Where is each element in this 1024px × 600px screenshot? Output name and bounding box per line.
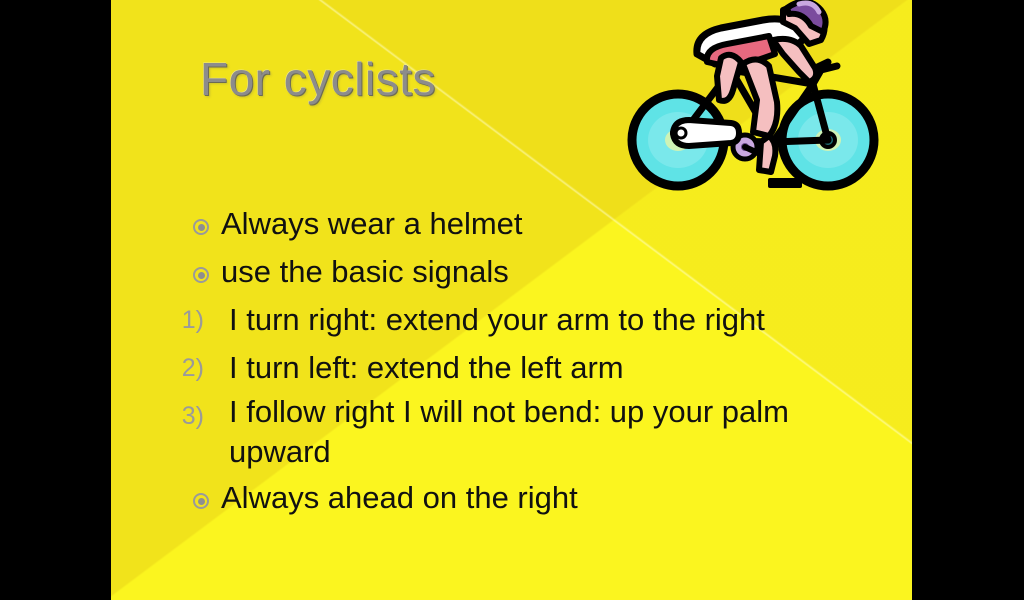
list-item-text: Always ahead on the right: [221, 480, 578, 515]
list-item-number: 1): [149, 296, 204, 344]
bullseye-bullet-icon: [149, 474, 209, 522]
list-item: 1) I turn right: extend your arm to the …: [149, 296, 909, 344]
slide-stage: For cyclists: [0, 0, 1024, 600]
bullseye-bullet-icon: [149, 200, 209, 248]
presentation-slide: For cyclists: [111, 0, 912, 600]
water-bottle: [673, 120, 739, 146]
list-item: Always ahead on the right: [149, 474, 909, 522]
list-item-text: use the basic signals: [221, 254, 509, 289]
letterbox-bar-left: [0, 0, 111, 600]
slide-title: For cyclists: [200, 52, 436, 106]
list-item: 2) I turn left: extend the left arm: [149, 344, 909, 392]
list-item: 3) I follow right I will not bend: up yo…: [149, 392, 809, 472]
slide-body-list: Always wear a helmet use the basic signa…: [149, 200, 909, 522]
list-item: Always wear a helmet: [149, 200, 909, 248]
cyclist-clipart-image: [623, 0, 883, 207]
bullseye-bullet-icon: [149, 248, 209, 296]
list-item-text: Always wear a helmet: [221, 206, 523, 241]
list-item-text: I turn left: extend the left arm: [229, 350, 624, 385]
list-item-text: I turn right: extend your arm to the rig…: [229, 302, 765, 337]
letterbox-bar-right: [912, 0, 1024, 600]
list-item: use the basic signals: [149, 248, 909, 296]
list-item-number: 3): [149, 392, 204, 440]
list-item-text: I follow right I will not bend: up your …: [229, 394, 789, 469]
list-item-number: 2): [149, 344, 204, 392]
